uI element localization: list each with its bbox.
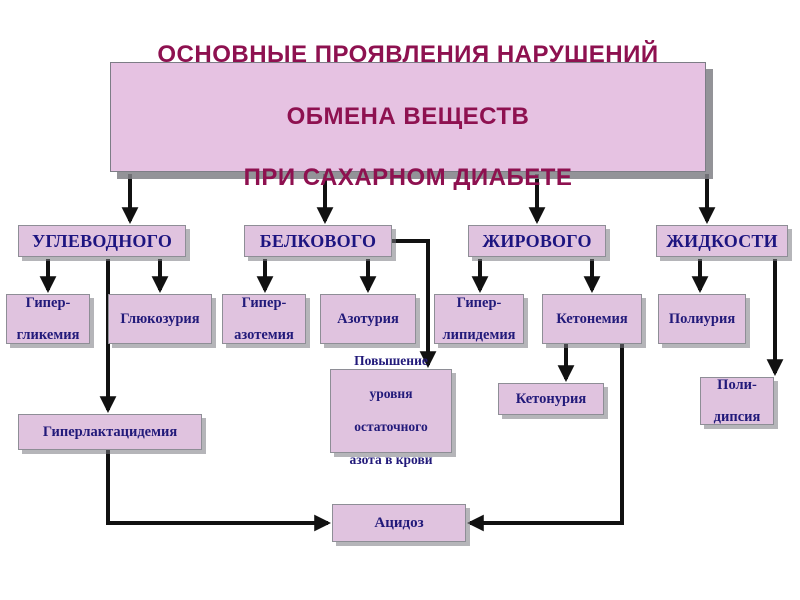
diagram-title: ОСНОВНЫЕ ПРОЯВЛЕНИЯ НАРУШЕНИЙ ОБМЕНА ВЕЩ… <box>110 62 706 172</box>
category-label-protein: БЕЛКОВОГО <box>245 231 391 251</box>
node-residual-nitrogen-line-4: азота в крови <box>331 452 451 468</box>
node-glucosuria[interactable]: Глюкозурия <box>108 294 212 344</box>
node-ketonemia[interactable]: Кетонемия <box>542 294 642 344</box>
node-hyperazotemia-line-2: азотемия <box>223 327 305 343</box>
node-residual-nitrogen-line-2: уровня <box>331 386 451 402</box>
node-hyperglycemia-line-1: Гипер- <box>7 295 89 311</box>
category-label-fluid: ЖИДКОСТИ <box>657 231 787 251</box>
node-hyperlipidemia-line-2: липидемия <box>435 327 523 343</box>
node-hyperglycemia-line-2: гликемия <box>7 327 89 343</box>
node-hyperlactacidemia-line-1: Гиперлактацидемия <box>19 424 201 440</box>
node-polydipsia[interactable]: Поли- дипсия <box>700 377 774 425</box>
category-box-protein[interactable]: БЕЛКОВОГО <box>244 225 392 257</box>
node-polyuria-line-1: Полиурия <box>659 311 745 327</box>
node-hyperlipidemia-line-1: Гипер- <box>435 295 523 311</box>
node-acidosis[interactable]: Ацидоз <box>332 504 466 542</box>
node-ketonemia-line-1: Кетонемия <box>543 311 641 327</box>
diagram-canvas: ОСНОВНЫЕ ПРОЯВЛЕНИЯ НАРУШЕНИЙ ОБМЕНА ВЕЩ… <box>0 0 800 600</box>
node-acidosis-line-1: Ацидоз <box>333 515 465 532</box>
node-residual-nitrogen[interactable]: Повышение уровня остаточного азота в кро… <box>330 369 452 453</box>
node-residual-nitrogen-line-3: остаточного <box>331 419 451 435</box>
category-box-carbohydrate[interactable]: УГЛЕВОДНОГО <box>18 225 186 257</box>
connector-hyperlactacidemia-to-acidosis <box>108 450 328 523</box>
node-glucosuria-line-1: Глюкозурия <box>109 311 211 327</box>
node-ketonuria-line-1: Кетонурия <box>499 391 603 407</box>
node-hyperlactacidemia[interactable]: Гиперлактацидемия <box>18 414 202 450</box>
node-hyperglycemia[interactable]: Гипер- гликемия <box>6 294 90 344</box>
title-line-2: ОБМЕНА ВЕЩЕСТВ <box>119 102 697 133</box>
category-label-carbohydrate: УГЛЕВОДНОГО <box>19 231 185 251</box>
node-azoturia-line-1: Азотурия <box>321 311 415 327</box>
node-residual-nitrogen-line-1: Повышение <box>331 353 451 369</box>
connector-ketonemia-to-acidosis <box>470 344 622 523</box>
category-label-fat: ЖИРОВОГО <box>469 231 605 251</box>
node-polydipsia-line-1: Поли- <box>701 377 773 393</box>
node-hyperlipidemia[interactable]: Гипер- липидемия <box>434 294 524 344</box>
node-polyuria[interactable]: Полиурия <box>658 294 746 344</box>
node-hyperazotemia-line-1: Гипер- <box>223 295 305 311</box>
category-box-fat[interactable]: ЖИРОВОГО <box>468 225 606 257</box>
category-box-fluid[interactable]: ЖИДКОСТИ <box>656 225 788 257</box>
node-polydipsia-line-2: дипсия <box>701 409 773 425</box>
title-line-3: ПРИ САХАРНОМ ДИАБЕТЕ <box>119 163 697 194</box>
node-azoturia[interactable]: Азотурия <box>320 294 416 344</box>
node-ketonuria[interactable]: Кетонурия <box>498 383 604 415</box>
node-hyperazotemia[interactable]: Гипер- азотемия <box>222 294 306 344</box>
title-line-1: ОСНОВНЫЕ ПРОЯВЛЕНИЯ НАРУШЕНИЙ <box>119 40 697 71</box>
